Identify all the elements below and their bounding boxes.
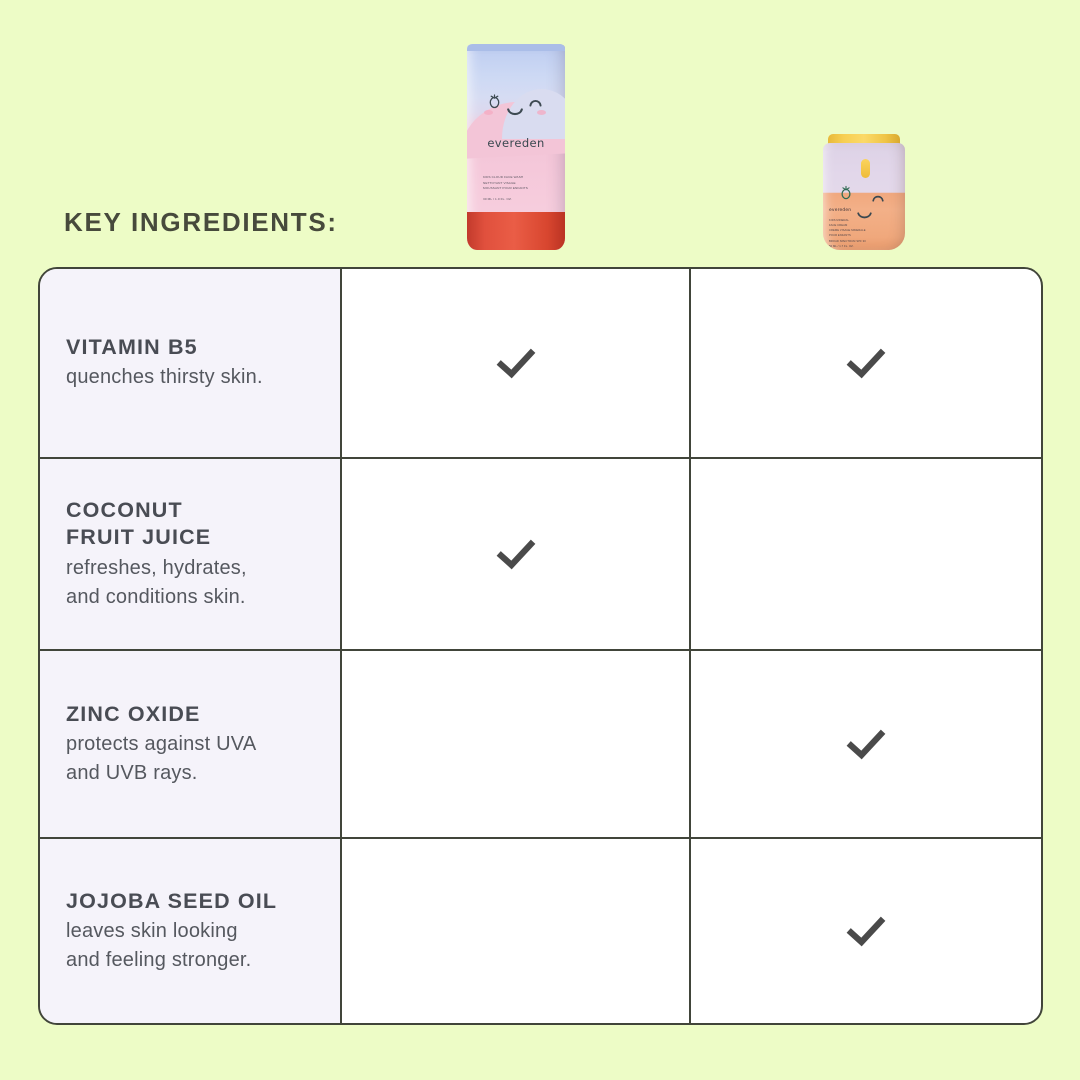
ingredient-desc-line: and UVB rays. [66, 759, 340, 788]
jar-body: evereden KIDS MINERAL FACE CREAM CREME V… [823, 143, 905, 250]
evereden-logo-eye-icon [840, 185, 852, 205]
ingredient-name-line: FRUIT JUICE [66, 524, 340, 552]
face-wash-tube-graphic: evereden KIDS CLOUD FACE WASH NETTOYANT … [467, 44, 565, 250]
ingredient-name: ZINC OXIDE [66, 701, 340, 729]
check-cell-face-wash [342, 651, 691, 837]
checkmark-icon [494, 532, 538, 576]
tube-volume-label: 30 ML / 1.0 FL. OZ. [483, 197, 553, 203]
checkmark-icon [844, 722, 888, 766]
ingredient-desc-line: and conditions skin. [66, 583, 340, 612]
ingredient-desc-line: refreshes, hydrates, [66, 554, 340, 583]
ingredient-name-line: VITAMIN B5 [66, 334, 340, 362]
jar-brand-label: evereden [829, 207, 873, 216]
ingredient-name-line: COCONUT [66, 497, 340, 525]
table-row: VITAMIN B5 quenches thirsty skin. [40, 269, 1041, 459]
table-row: ZINC OXIDE protects against UVA and UVB … [40, 651, 1041, 839]
jar-volume-label: 50 ML / 1.7 FL. OZ. [829, 244, 873, 249]
face-cream-jar-graphic: evereden KIDS MINERAL FACE CREAM CREME V… [823, 134, 905, 250]
ingredient-name: VITAMIN B5 [66, 334, 340, 362]
tube-copy-line-3: MOUSSANT POUR ENFANTS [483, 186, 553, 192]
tube-shoulder [467, 44, 565, 51]
tube-face-illustration [467, 88, 565, 122]
checkmark-icon [494, 341, 538, 385]
ingredient-description: leaves skin looking and feeling stronger… [66, 917, 340, 974]
ingredient-desc-line: protects against UVA [66, 730, 340, 759]
check-cell-face-cream [691, 839, 1040, 1023]
tube-product-copy: KIDS CLOUD FACE WASH NETTOYANT VISAGE MO… [483, 175, 553, 203]
checkmark-icon [844, 341, 888, 385]
tube-brand-label: evereden [467, 136, 565, 150]
ingredient-desc-line: and feeling stronger. [66, 946, 340, 975]
check-cell-face-wash [342, 839, 691, 1023]
ingredient-name: JOJOBA SEED OIL [66, 888, 340, 916]
ingredient-desc-line: leaves skin looking [66, 917, 340, 946]
product-image-face-cream: evereden KIDS MINERAL FACE CREAM CREME V… [690, 134, 1038, 250]
page-title: KEY INGREDIENTS: [64, 207, 338, 238]
ingredient-description: protects against UVA and UVB rays. [66, 730, 340, 787]
table-row: JOJOBA SEED OIL leaves skin looking and … [40, 839, 1041, 1023]
ingredient-label-cell: ZINC OXIDE protects against UVA and UVB … [40, 651, 342, 837]
check-cell-face-cream [691, 651, 1040, 837]
eye-right-icon [872, 189, 884, 207]
product-image-face-wash: evereden KIDS CLOUD FACE WASH NETTOYANT … [342, 44, 690, 250]
check-cell-face-cream [691, 269, 1040, 457]
ingredient-desc-line: quenches thirsty skin. [66, 363, 340, 392]
ingredient-name-line: JOJOBA SEED OIL [66, 888, 340, 916]
check-cell-face-wash [342, 269, 691, 457]
checkmark-icon [844, 909, 888, 953]
smile-icon [507, 104, 523, 122]
ingredient-description: quenches thirsty skin. [66, 363, 340, 392]
key-ingredients-comparison-table: VITAMIN B5 quenches thirsty skin. COCONU… [38, 267, 1043, 1025]
ingredient-name-line: ZINC OXIDE [66, 701, 340, 729]
ingredient-label-cell: COCONUT FRUIT JUICE refreshes, hydrates,… [40, 459, 342, 649]
tube-cap [467, 212, 565, 250]
check-cell-face-wash [342, 459, 691, 649]
jar-tab-icon [861, 159, 870, 178]
table-row: COCONUT FRUIT JUICE refreshes, hydrates,… [40, 459, 1041, 651]
ingredient-name: COCONUT FRUIT JUICE [66, 497, 340, 552]
ingredient-label-cell: JOJOBA SEED OIL leaves skin looking and … [40, 839, 342, 1023]
ingredient-description: refreshes, hydrates, and conditions skin… [66, 554, 340, 611]
jar-product-copy: evereden KIDS MINERAL FACE CREAM CREME V… [829, 207, 873, 249]
evereden-logo-eye-icon [488, 94, 501, 114]
eye-right-icon [529, 94, 542, 112]
check-cell-face-cream [691, 459, 1040, 649]
ingredient-label-cell: VITAMIN B5 quenches thirsty skin. [40, 269, 342, 457]
